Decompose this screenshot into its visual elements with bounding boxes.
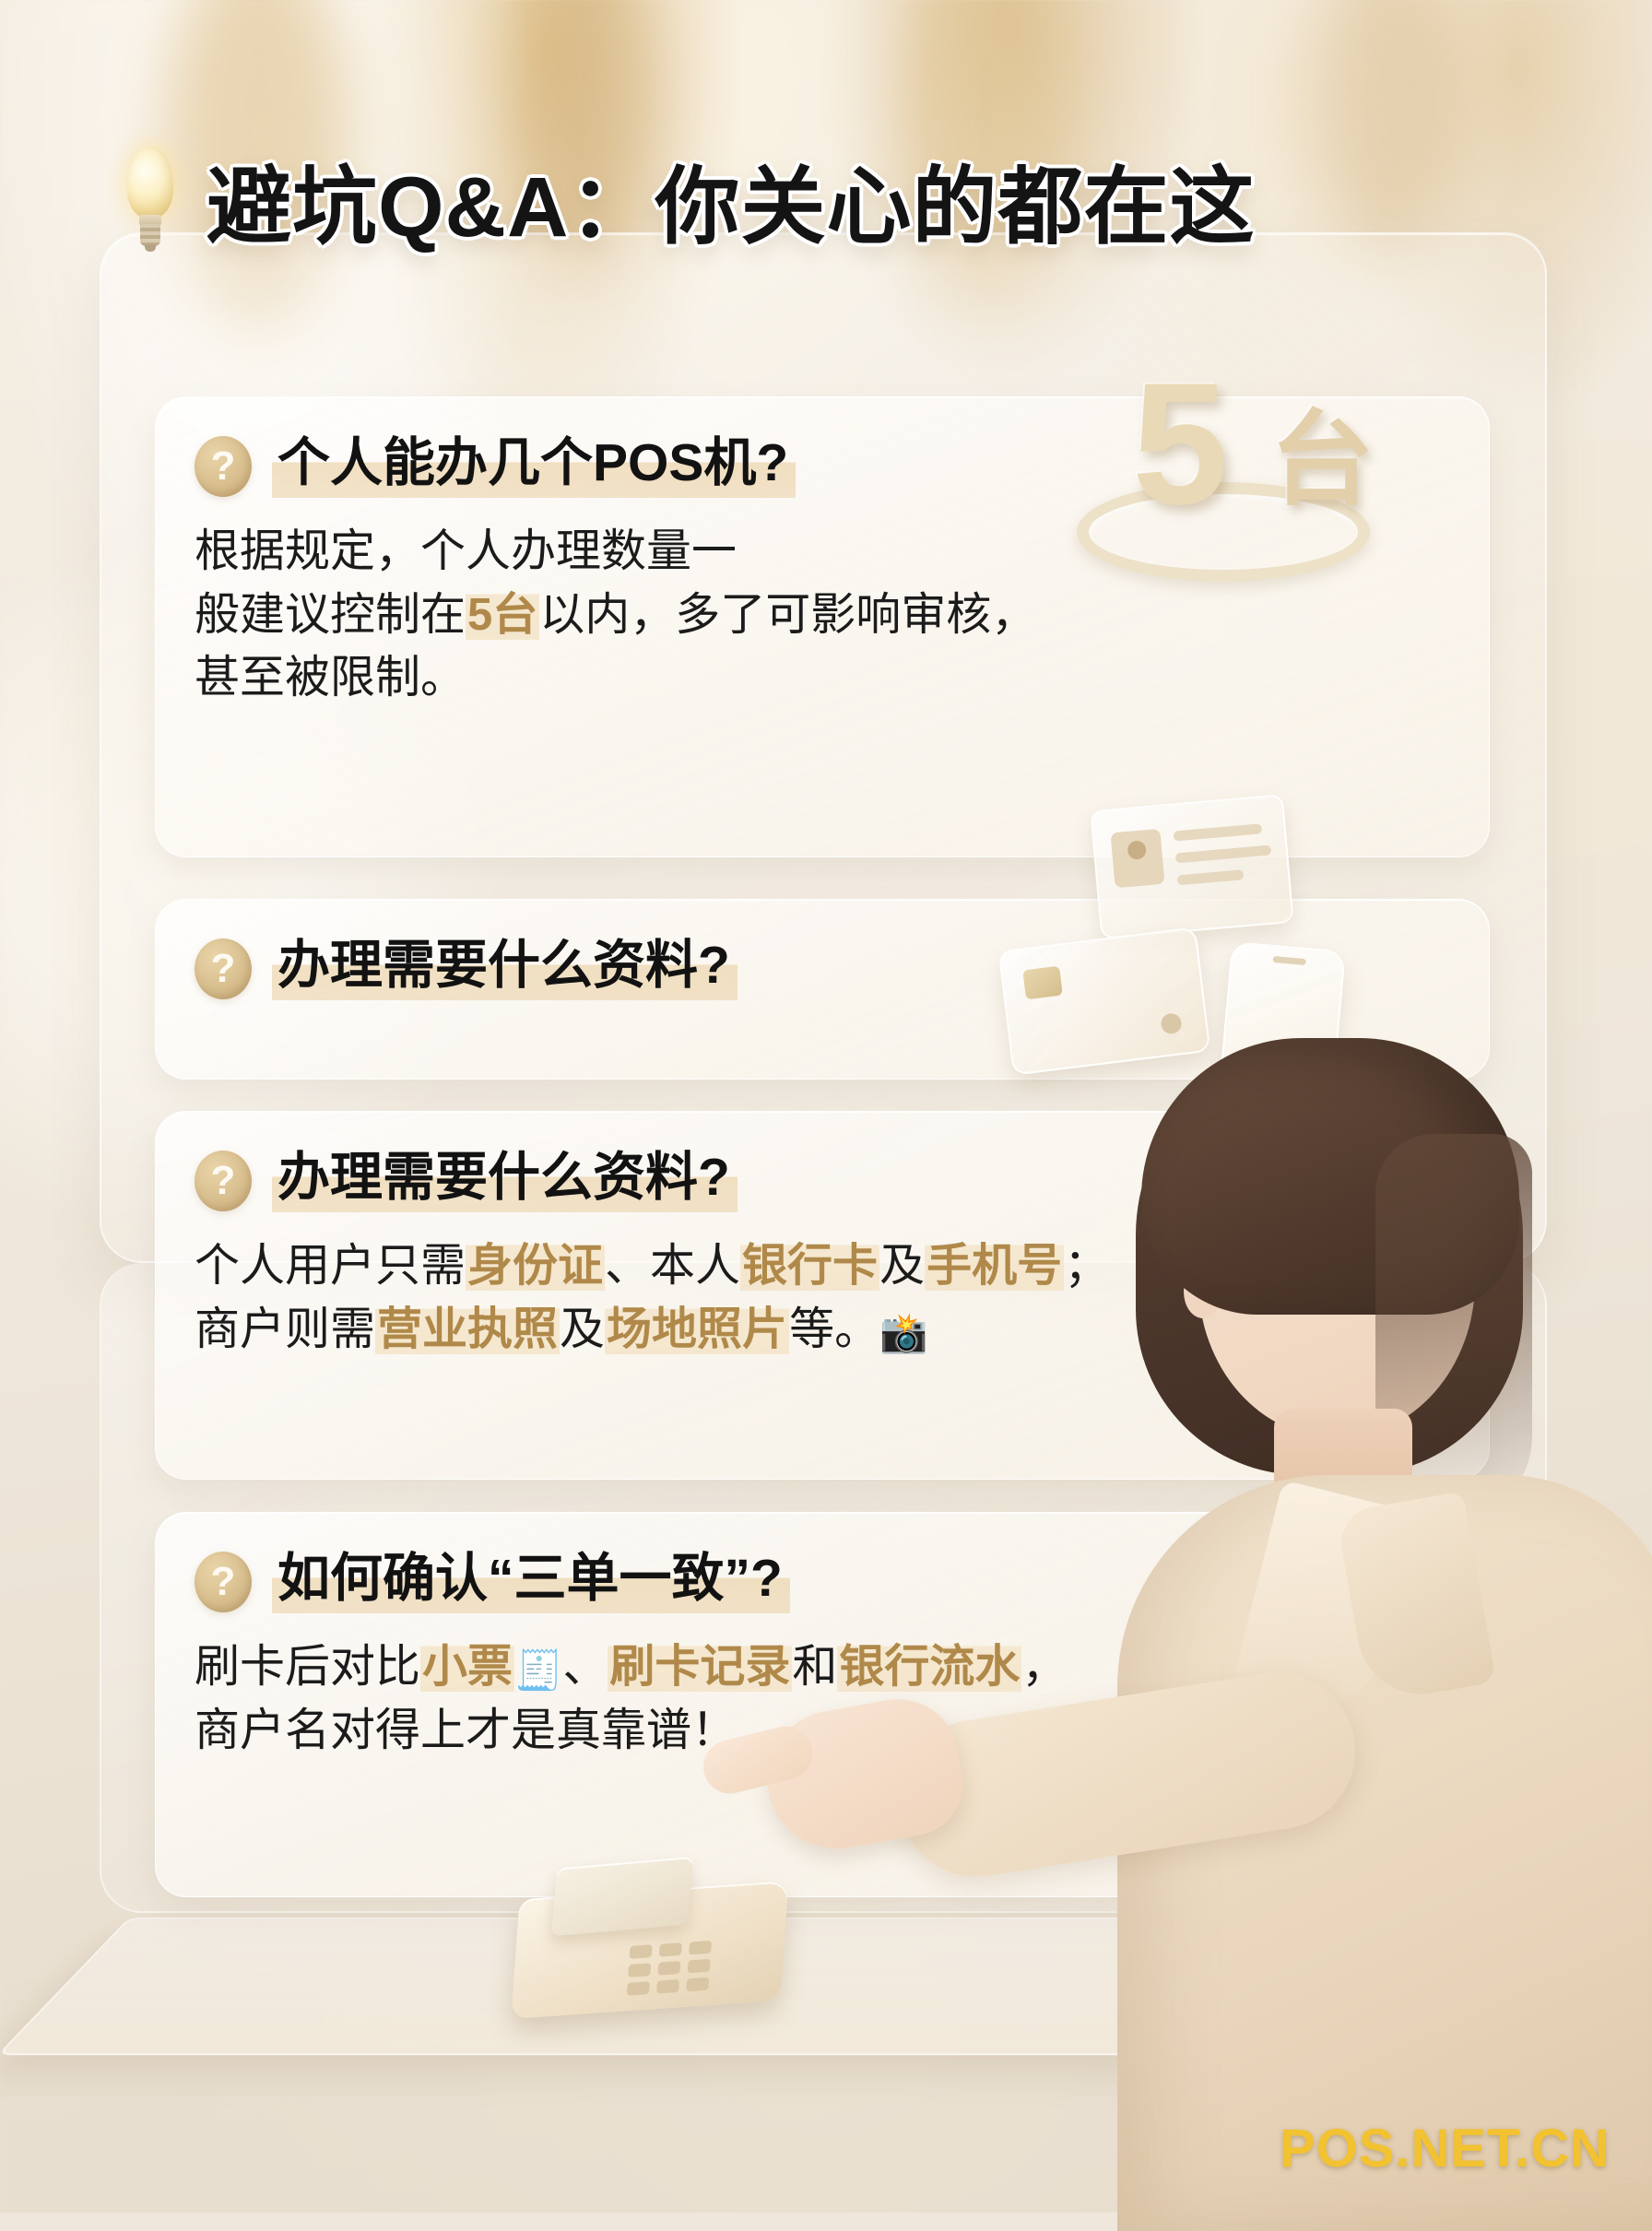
highlighted-term: 营业执照	[375, 1304, 560, 1354]
inline-emoji-icon: 📸	[879, 1311, 927, 1354]
answer-run: 商户则需	[195, 1304, 375, 1354]
answer-run: 和	[792, 1642, 837, 1692]
qa-card[interactable]: ? 个人能办几个POS机? 根据规定，个人办理数量一般建议控制在5台以内，多了可…	[155, 396, 1490, 857]
highlighted-term: 银行卡	[740, 1241, 879, 1291]
highlighted-term: 5台	[466, 590, 539, 640]
inline-emoji-icon: 🧾	[514, 1648, 562, 1692]
question-mark-icon: ?	[195, 938, 252, 999]
question-mark-icon: ?	[195, 436, 252, 497]
answer-run: 及	[560, 1304, 605, 1354]
question-text: 个人能办几个POS机?	[272, 432, 796, 498]
answer-line: 甚至被限制。	[195, 646, 1446, 710]
page-title: 避坑Q&A：你关心的都在这	[206, 138, 1255, 261]
question-mark-icon: ?	[195, 1552, 252, 1612]
answer-run: 及	[879, 1241, 925, 1291]
answer-line: 根据规定，个人办理数量一	[195, 520, 1446, 584]
answer-run: 商户名对得上才是真靠谱！	[195, 1706, 737, 1755]
character-illustration	[979, 996, 1652, 2222]
answer-run: 刷卡后对比	[195, 1642, 420, 1692]
highlighted-term: 身份证	[466, 1241, 605, 1291]
highlighted-term: 场地照片	[605, 1304, 789, 1354]
question-row: ? 办理需要什么资料?	[195, 935, 1446, 1000]
highlighted-term: 刷卡记录	[608, 1642, 792, 1692]
answer-run: 等。	[789, 1304, 879, 1354]
watermark: POS.NET.CN	[1280, 2118, 1610, 2179]
question-row: ? 个人能办几个POS机?	[195, 432, 1446, 498]
answer-run: 根据规定，个人办理数量一	[195, 526, 737, 576]
question-mark-icon: ?	[195, 1151, 252, 1211]
question-text: 如何确认“三单一致”?	[272, 1548, 790, 1613]
page-header: 避坑Q&A：你关心的都在这	[118, 138, 1255, 261]
pos-terminal-object	[516, 1853, 820, 2037]
answer-text: 根据规定，个人办理数量一般建议控制在5台以内，多了可影响审核，甚至被限制。	[195, 520, 1446, 710]
answer-line: 般建议控制在5台以内，多了可影响审核，	[195, 584, 1446, 647]
answer-run: 以内，多了可影响审核，	[539, 590, 1036, 640]
answer-run: 、本人	[605, 1241, 740, 1291]
answer-run: 般建议控制在	[195, 590, 466, 640]
answer-run: 、	[562, 1642, 608, 1692]
highlighted-term: 小票	[420, 1642, 514, 1692]
question-text: 办理需要什么资料?	[272, 1147, 737, 1212]
lightbulb-icon	[118, 147, 183, 254]
answer-run: 甚至被限制。	[195, 653, 466, 702]
question-text: 办理需要什么资料?	[272, 935, 737, 1000]
answer-run: 个人用户只需	[195, 1241, 466, 1291]
